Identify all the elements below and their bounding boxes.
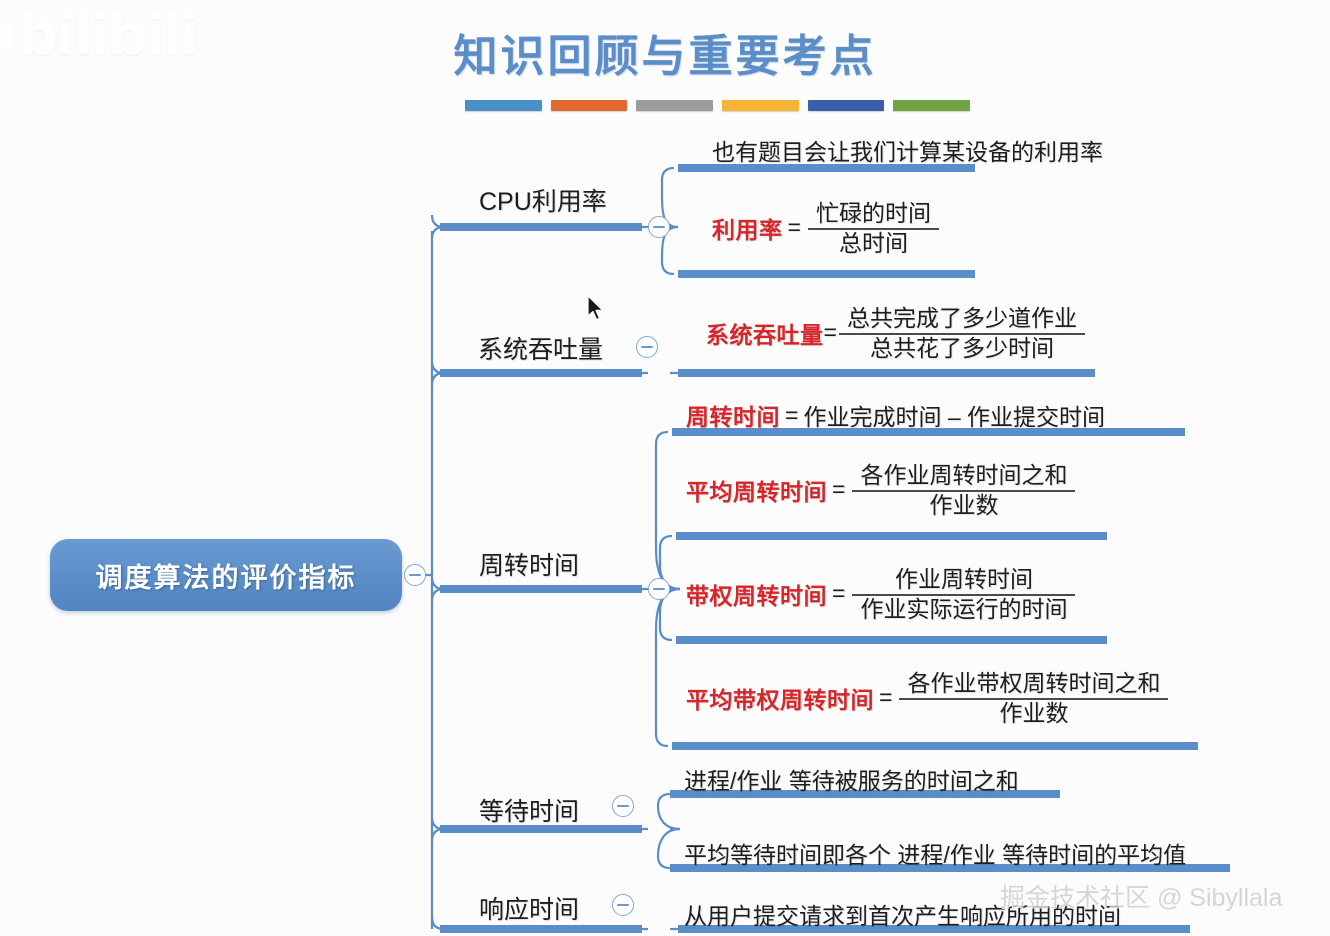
fraction-numerator: 作业周转时间 bbox=[852, 567, 1075, 594]
topic-label-turnaround-time[interactable]: 周转时间 bbox=[479, 546, 579, 582]
mouse-cursor bbox=[586, 295, 606, 323]
fraction-numerator: 总共完成了多少道作业 bbox=[839, 306, 1085, 333]
fraction-numerator: 各作业周转时间之和 bbox=[852, 463, 1075, 490]
subitem-weighted-turnaround-op: = bbox=[827, 580, 850, 607]
root-node[interactable]: 调度算法的评价指标 bbox=[50, 539, 402, 611]
subitem-waiting-avg: 平均等待时间即各个 进程/作业 等待时间的平均值 bbox=[684, 836, 1186, 870]
collapse-toggle-waiting-time[interactable] bbox=[612, 795, 634, 817]
fraction-denominator: 总共花了多少时间 bbox=[839, 333, 1085, 362]
topic-label-system-throughput[interactable]: 系统吞吐量 bbox=[478, 330, 603, 366]
subitem-waiting-avg-text: 平均等待时间即各个 进程/作业 等待时间的平均值 bbox=[684, 842, 1186, 868]
fraction-denominator: 作业数 bbox=[852, 490, 1075, 519]
subitem-avg-turnaround-lhs: 平均周转时间 bbox=[686, 473, 827, 507]
subitem-throughput-op: = bbox=[824, 319, 837, 346]
subitem-avg-weighted-turnaround-formula: 平均带权周转时间 = 各作业带权周转时间之和 作业数 bbox=[686, 670, 1170, 726]
subitem-throughput-lhs: 系统吞吐量 bbox=[706, 316, 824, 350]
subitem-turnaround-rhs: 作业完成时间 – 作业提交时间 bbox=[803, 398, 1105, 432]
fraction-numerator: 忙碌的时间 bbox=[808, 201, 939, 228]
collapse-toggle-root[interactable] bbox=[404, 564, 426, 586]
collapse-toggle-turnaround-time[interactable] bbox=[648, 578, 670, 600]
subitem-cpu-formula-fraction: 忙碌的时间 总时间 bbox=[808, 201, 939, 257]
juejin-watermark: 掘金技术社区 @ Sibyllala bbox=[1000, 878, 1282, 914]
subitem-avg-turnaround-fraction: 各作业周转时间之和 作业数 bbox=[852, 463, 1075, 519]
subitem-waiting-sum-text: 进程/作业 等待被服务的时间之和 bbox=[684, 768, 1019, 794]
collapse-toggle-system-throughput[interactable] bbox=[636, 336, 658, 358]
fraction-denominator: 总时间 bbox=[808, 228, 939, 257]
subitem-throughput-formula: 系统吞吐量 = 总共完成了多少道作业 总共花了多少时间 bbox=[706, 305, 1087, 361]
mindmap-canvas: bilibili 知识回顾与重要考点 bbox=[0, 0, 1330, 936]
subitem-turnaround-lhs: 周转时间 bbox=[686, 398, 780, 432]
subitem-weighted-turnaround-fraction: 作业周转时间 作业实际运行的时间 bbox=[852, 567, 1075, 623]
topic-label-response-time[interactable]: 响应时间 bbox=[479, 890, 579, 926]
subitem-avg-turnaround-op: = bbox=[827, 476, 850, 503]
subitem-avg-turnaround-formula: 平均周转时间 = 各作业周转时间之和 作业数 bbox=[686, 462, 1077, 518]
subitem-avg-weighted-turnaround-lhs: 平均带权周转时间 bbox=[686, 681, 874, 715]
subitem-weighted-turnaround-lhs: 带权周转时间 bbox=[686, 577, 827, 611]
collapse-toggle-cpu-utilization[interactable] bbox=[648, 216, 670, 238]
subitem-cpu-formula: 利用率 = 忙碌的时间 总时间 bbox=[712, 200, 941, 256]
subitem-cpu-note-text: 也有题目会让我们计算某设备的利用率 bbox=[712, 139, 1103, 165]
branch-connectors bbox=[0, 0, 1330, 936]
root-node-label: 调度算法的评价指标 bbox=[96, 556, 357, 595]
topic-label-cpu-utilization[interactable]: CPU利用率 bbox=[479, 182, 607, 218]
fraction-numerator: 各作业带权周转时间之和 bbox=[899, 671, 1168, 698]
subitem-avg-weighted-turnaround-fraction: 各作业带权周转时间之和 作业数 bbox=[899, 671, 1168, 727]
subitem-turnaround-op: = bbox=[780, 402, 803, 429]
subitem-cpu-note: 也有题目会让我们计算某设备的利用率 bbox=[712, 133, 1103, 167]
subitem-cpu-formula-op: = bbox=[783, 214, 806, 241]
collapse-toggle-response-time[interactable] bbox=[612, 894, 634, 916]
subitem-weighted-turnaround-formula: 带权周转时间 = 作业周转时间 作业实际运行的时间 bbox=[686, 566, 1077, 622]
subitem-turnaround-equation: 周转时间 = 作业完成时间 – 作业提交时间 bbox=[686, 398, 1105, 432]
subitem-cpu-formula-lhs: 利用率 bbox=[712, 211, 783, 245]
subitem-waiting-sum: 进程/作业 等待被服务的时间之和 bbox=[684, 762, 1019, 796]
subitem-throughput-fraction: 总共完成了多少道作业 总共花了多少时间 bbox=[839, 306, 1085, 362]
topic-label-waiting-time[interactable]: 等待时间 bbox=[479, 792, 579, 828]
subitem-avg-weighted-turnaround-op: = bbox=[874, 684, 897, 711]
fraction-denominator: 作业实际运行的时间 bbox=[852, 594, 1075, 623]
fraction-denominator: 作业数 bbox=[899, 698, 1168, 727]
